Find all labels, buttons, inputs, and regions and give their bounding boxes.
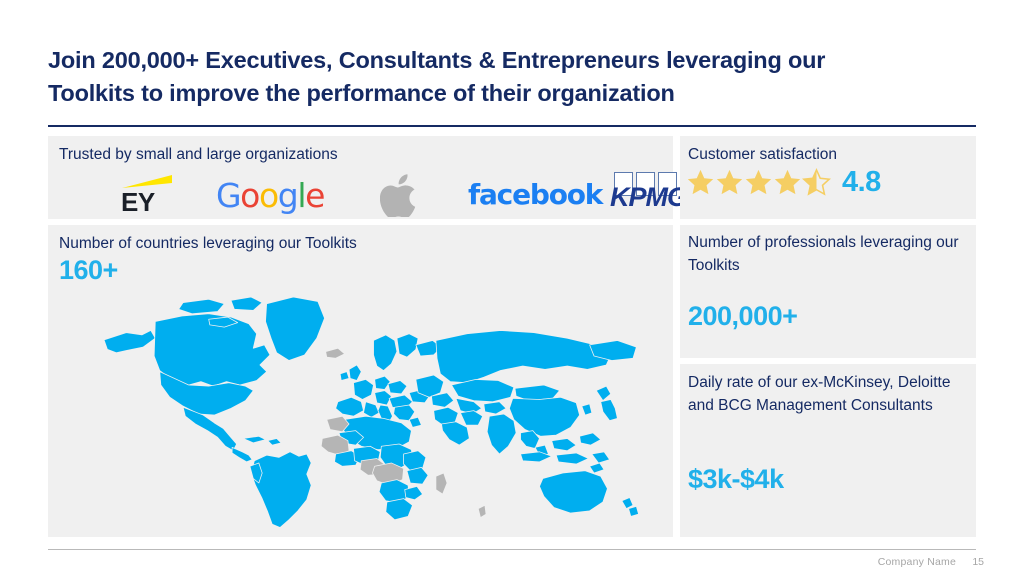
star-filled-icon — [744, 168, 773, 197]
trusted-by-card: Trusted by small and large organizations… — [48, 136, 673, 219]
page-title: Join 200,000+ Executives, Consultants & … — [48, 44, 948, 111]
world-map-svg — [98, 287, 658, 532]
facebook-logo-text: facebook — [468, 178, 602, 211]
rating-value: 4.8 — [842, 168, 881, 197]
countries-map-card: Number of countries leveraging our Toolk… — [48, 225, 673, 537]
facebook-logo: facebook — [468, 170, 588, 218]
kpmg-logo-text: KPMG — [610, 182, 687, 213]
professionals-card: Number of professionals leveraging our T… — [680, 225, 976, 358]
customer-satisfaction-card: Customer satisfaction 4.8 — [680, 136, 976, 219]
trusted-by-heading: Trusted by small and large organizations — [59, 144, 338, 167]
star-rating — [686, 168, 831, 197]
rating-row: 4.8 — [686, 168, 881, 197]
ey-logo: EY — [110, 170, 180, 218]
customer-satisfaction-heading: Customer satisfaction — [688, 144, 837, 167]
apple-icon — [380, 173, 422, 217]
daily-rate-stat: $3k-$4k — [688, 464, 784, 495]
world-map — [98, 287, 658, 532]
star-filled-icon — [715, 168, 744, 197]
google-logo: Google — [216, 170, 331, 218]
countries-stat: 160+ — [59, 255, 118, 286]
professionals-stat: 200,000+ — [688, 301, 797, 332]
title-divider — [48, 125, 976, 127]
star-half-icon — [802, 168, 831, 197]
star-filled-icon — [773, 168, 802, 197]
footer-page-number: 15 — [972, 556, 984, 568]
professionals-heading: Number of professionals leveraging our T… — [688, 232, 968, 278]
daily-rate-heading: Daily rate of our ex-McKinsey, Deloitte … — [688, 372, 971, 418]
apple-logo — [380, 170, 426, 218]
daily-rate-card: Daily rate of our ex-McKinsey, Deloitte … — [680, 364, 976, 537]
logo-row: EY Google facebook KPMG — [48, 170, 673, 218]
ey-logo-text: EY — [121, 187, 155, 218]
page-title-line-1: Join 200,000+ Executives, Consultants & … — [48, 47, 825, 73]
star-filled-icon — [686, 168, 715, 197]
page-title-line-2: Toolkits to improve the performance of t… — [48, 80, 675, 106]
countries-heading: Number of countries leveraging our Toolk… — [59, 233, 357, 256]
footer-company-name: Company Name — [878, 556, 956, 568]
footer-divider — [48, 549, 976, 550]
google-logo-text: Google — [216, 176, 324, 215]
